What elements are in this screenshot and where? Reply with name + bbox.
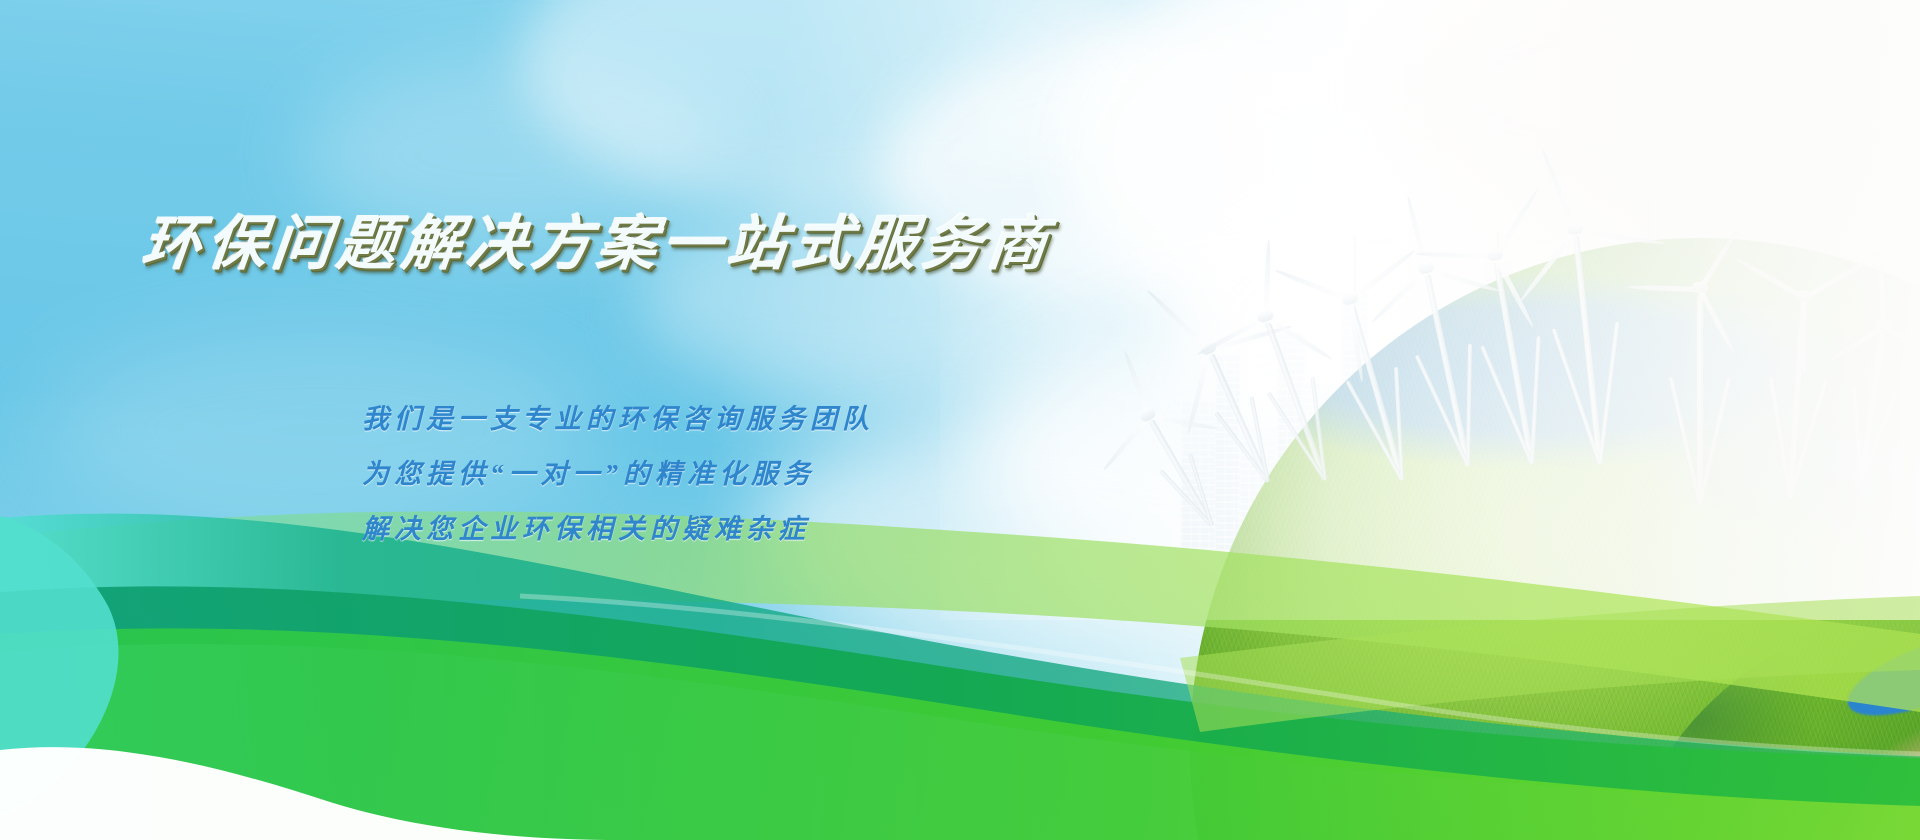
subtitle-line-1: 我们是一支专业的环保咨询服务团队	[362, 392, 874, 447]
subtitle-line-3: 解决您企业环保相关的疑难杂症	[362, 502, 874, 557]
turbine-hub	[1692, 282, 1708, 293]
green-wave-ribbon	[0, 420, 1920, 840]
turbine-blade	[1518, 229, 1577, 303]
hero-banner: 环保问题解决方案一站式服务商 我们是一支专业的环保咨询服务团队 为您提供“一对一…	[0, 0, 1920, 840]
turbine-blade	[1628, 284, 1700, 292]
turbine-hub	[1796, 290, 1813, 302]
subtitle-line-2: 为您提供“一对一”的精准化服务	[362, 447, 874, 502]
subtitle-block: 我们是一支专业的环保咨询服务团队 为您提供“一对一”的精准化服务 解决您企业环保…	[362, 392, 874, 557]
page-title: 环保问题解决方案一站式服务商	[139, 196, 1058, 281]
turbine-blade	[1575, 228, 1665, 245]
skyline-spire	[1812, 154, 1814, 210]
